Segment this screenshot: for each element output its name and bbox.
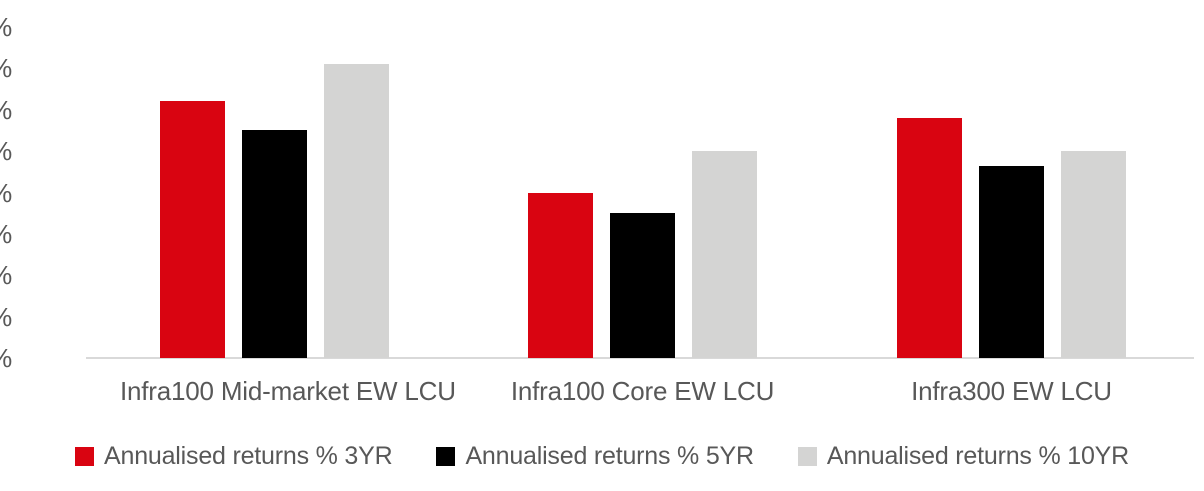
x-axis-category-label: Infra100 Mid-market EW LCU [120, 377, 429, 407]
bar [528, 193, 593, 359]
legend-swatch-icon [75, 447, 94, 466]
x-axis-category-label: Infra100 Core EW LCU [488, 377, 797, 407]
bar [1061, 151, 1126, 358]
plot-bars: Infra100 Mid-market EW LCUInfra100 Core … [0, 0, 1204, 358]
bar [242, 130, 307, 358]
bar [979, 166, 1044, 358]
legend-swatch-icon [798, 447, 817, 466]
x-axis-category-label: Infra300 EW LCU [857, 377, 1166, 407]
bar [324, 64, 389, 358]
bar [897, 118, 962, 358]
bar [692, 151, 757, 358]
bar-chart: 16%14%12%10%8%6%4%2%0% Infra100 Mid-mark… [0, 0, 1204, 491]
legend-item[interactable]: Annualised returns % 3YR [75, 444, 392, 469]
bar [610, 213, 675, 358]
chart-legend: Annualised returns % 3YRAnnualised retur… [0, 444, 1204, 469]
legend-label: Annualised returns % 5YR [465, 444, 753, 469]
legend-item[interactable]: Annualised returns % 5YR [436, 444, 753, 469]
legend-item[interactable]: Annualised returns % 10YR [798, 444, 1129, 469]
legend-swatch-icon [436, 447, 455, 466]
legend-label: Annualised returns % 3YR [104, 444, 392, 469]
legend-label: Annualised returns % 10YR [827, 444, 1129, 469]
bar [160, 101, 225, 358]
